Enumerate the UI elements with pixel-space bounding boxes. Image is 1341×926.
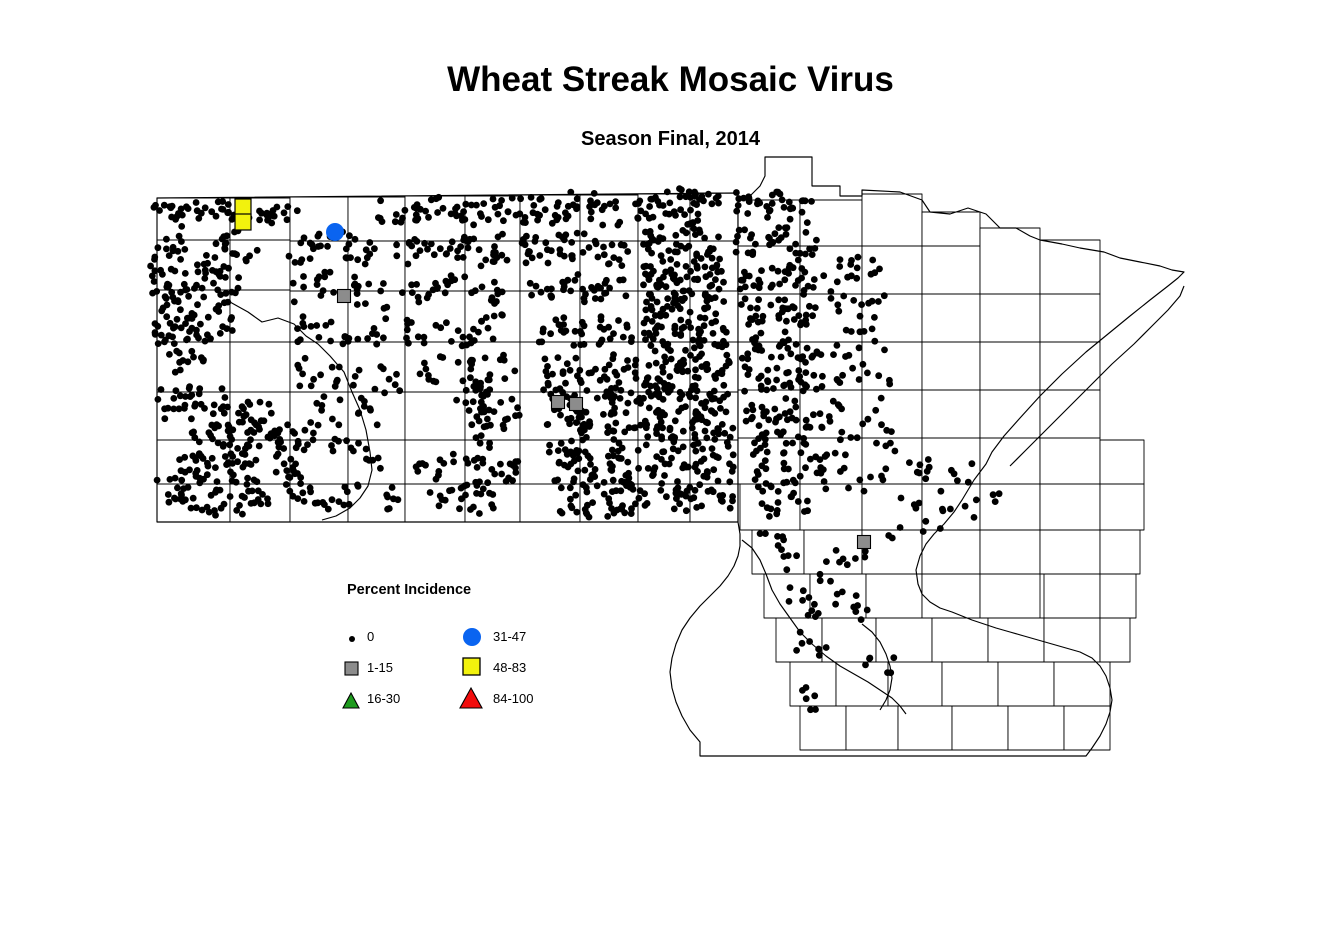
map-canvas [0, 0, 1341, 926]
legend-symbol-red-triangle [457, 684, 485, 712]
legend-label-84-100: 84-100 [493, 691, 533, 706]
site-marker-yellow-square [235, 199, 251, 215]
site-marker-gray-square [570, 398, 583, 411]
site-marker-gray-square [858, 536, 871, 549]
legend: Percent Incidence 0 1-15 16-30 31-47 48-… [345, 582, 585, 712]
legend-label-1-15: 1-15 [367, 660, 393, 675]
legend-label-31-47: 31-47 [493, 629, 526, 644]
site-marker-gray-square [552, 396, 565, 409]
legend-symbol-dot [341, 628, 363, 650]
legend-label-16-30: 16-30 [367, 691, 400, 706]
legend-title: Percent Incidence [347, 582, 585, 598]
legend-symbol-green-triangle [339, 689, 363, 711]
map-figure: Wheat Streak Mosaic Virus Season Final, … [0, 0, 1341, 926]
legend-symbol-gray-square [341, 658, 363, 680]
legend-label-0: 0 [367, 629, 374, 644]
legend-symbol-blue-circle [459, 624, 485, 650]
site-marker-gray-square [338, 290, 351, 303]
site-marker-yellow-square [235, 214, 251, 230]
legend-symbol-yellow-square [459, 654, 485, 680]
site-marker-blue-circle [326, 223, 344, 241]
legend-label-48-83: 48-83 [493, 660, 526, 675]
map-svg [0, 0, 1341, 926]
